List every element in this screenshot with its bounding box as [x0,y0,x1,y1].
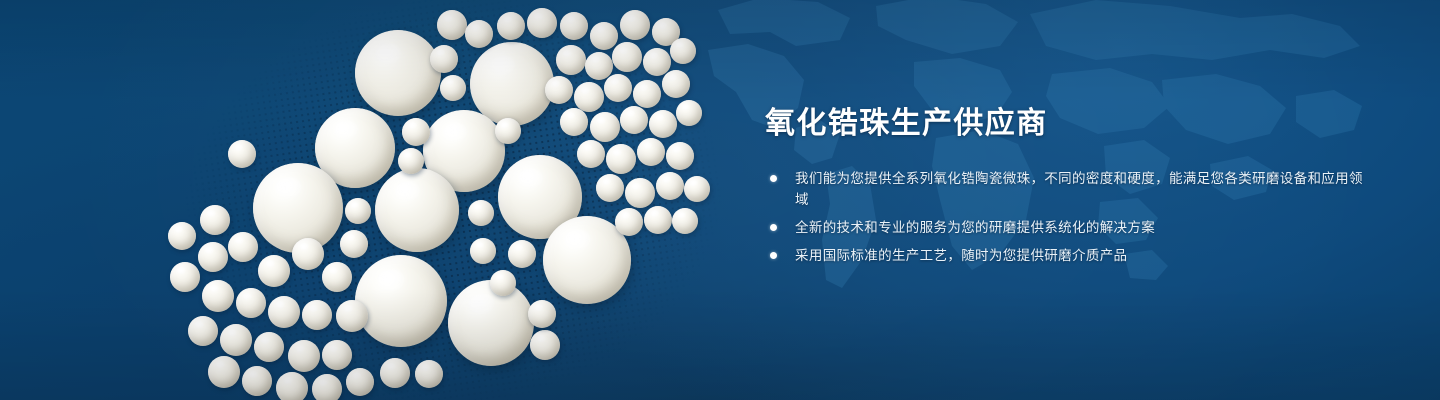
vignette-overlay [0,0,1440,400]
hero-banner: 氧化锆珠生产供应商 我们能为您提供全系列氧化锆陶瓷微珠，不同的密度和硬度，能满足… [0,0,1440,400]
